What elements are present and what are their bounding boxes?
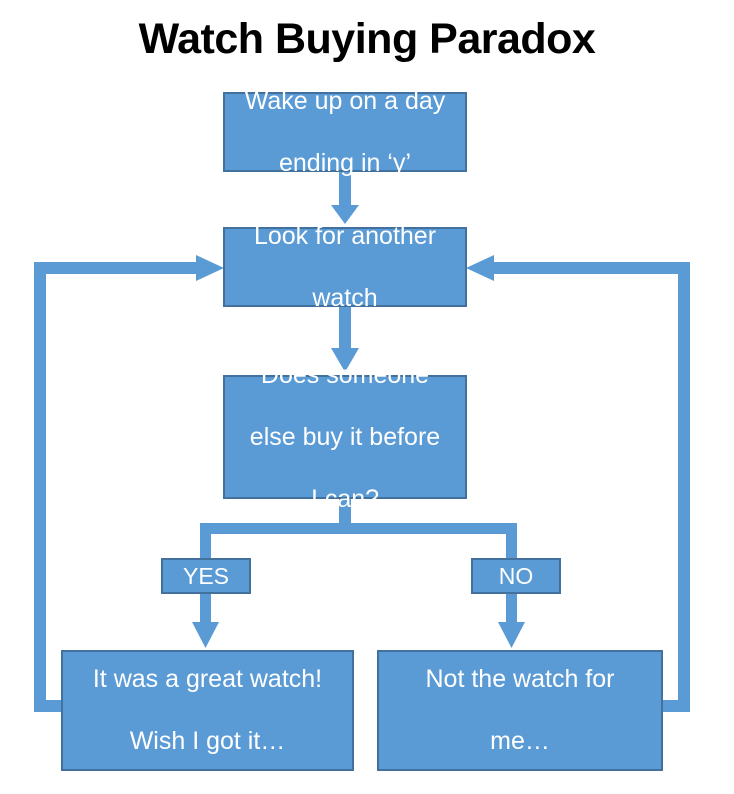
- edge-start-to-look: [331, 171, 359, 224]
- node-box-decision: [224, 376, 466, 498]
- node-box-no: [472, 559, 560, 593]
- edge-notfor-to-look-loop: [466, 255, 690, 712]
- node-box-look: [224, 228, 466, 306]
- node-box-yes: [162, 559, 250, 593]
- node-boxes: [62, 93, 662, 770]
- node-box-notfor: [378, 651, 662, 770]
- flowchart-canvas: Watch Buying Paradox: [0, 0, 734, 794]
- edge-look-to-decision: [331, 306, 359, 372]
- flowchart-graphics: [0, 0, 734, 794]
- edge-great-to-look-loop: [34, 255, 224, 712]
- node-box-start: [224, 93, 466, 171]
- edge-no-to-notfor: [498, 592, 525, 648]
- edge-decision-split: [200, 498, 517, 563]
- edge-yes-to-great: [192, 592, 219, 648]
- node-box-great: [62, 651, 353, 770]
